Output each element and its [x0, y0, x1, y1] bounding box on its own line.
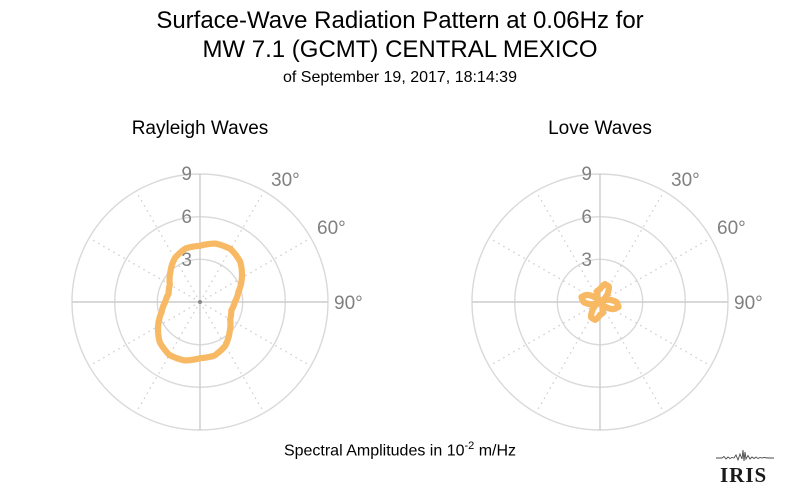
figure-caption: Spectral Amplitudes in 10-2 m/Hz [0, 440, 800, 460]
grid-rayleigh [72, 174, 328, 430]
angle-tick-60: 60° [717, 218, 746, 239]
spoke-60 [200, 238, 311, 302]
caption-suffix: m/Hz [474, 442, 516, 459]
love-radiation-curve [581, 284, 618, 320]
polar-svg-rayleigh: 9 6 3 30° 60° 90° [40, 156, 360, 456]
radiation-pattern-figure: Surface-Wave Radiation Pattern at 0.06Hz… [0, 0, 800, 496]
radial-tick-3: 3 [581, 250, 592, 271]
polar-svg-love: 9 6 3 30° 60° 90° [440, 156, 760, 456]
origin-dot [198, 300, 202, 304]
iris-wordmark: IRIS [720, 463, 767, 487]
spoke-60 [600, 238, 711, 302]
radial-tick-6: 6 [181, 207, 192, 228]
radial-tick-labels-rayleigh: 9 6 3 [181, 164, 192, 271]
spoke-240 [489, 302, 600, 366]
iris-logo: IRIS [712, 448, 790, 490]
figure-subtitle: of September 19, 2017, 18:14:39 [0, 67, 800, 89]
radial-tick-9: 9 [581, 164, 592, 185]
caption-prefix: Spectral Amplitudes in 10 [284, 442, 465, 459]
panel-love: Love Waves [400, 110, 800, 450]
iris-logo-svg: IRIS [712, 448, 790, 490]
caption-exponent: -2 [464, 440, 474, 452]
polar-plot-love: 9 6 3 30° 60° 90° [440, 156, 760, 456]
angle-tick-30: 30° [271, 170, 300, 191]
radial-tick-9: 9 [181, 164, 192, 185]
polar-plot-rayleigh: 9 6 3 30° 60° 90° [40, 156, 360, 456]
radial-tick-labels-love: 9 6 3 [581, 164, 592, 271]
panel-title-love: Love Waves [400, 118, 800, 140]
seismogram-trace-icon [716, 450, 774, 461]
angle-tick-60: 60° [317, 218, 346, 239]
panel-title-rayleigh: Rayleigh Waves [0, 118, 400, 140]
title-line-1: Surface-Wave Radiation Pattern at 0.06Hz… [0, 6, 800, 35]
radial-tick-6: 6 [581, 207, 592, 228]
angle-tick-90: 90° [734, 293, 763, 314]
angle-tick-90: 90° [334, 293, 363, 314]
spoke-240 [89, 302, 200, 366]
title-line-2: MW 7.1 (GCMT) CENTRAL MEXICO [0, 35, 800, 64]
panel-rayleigh: Rayleigh Waves [0, 110, 400, 450]
figure-title-block: Surface-Wave Radiation Pattern at 0.06Hz… [0, 6, 800, 89]
spoke-150 [600, 302, 664, 413]
angle-tick-30: 30° [671, 170, 700, 191]
spoke-120 [600, 302, 711, 366]
